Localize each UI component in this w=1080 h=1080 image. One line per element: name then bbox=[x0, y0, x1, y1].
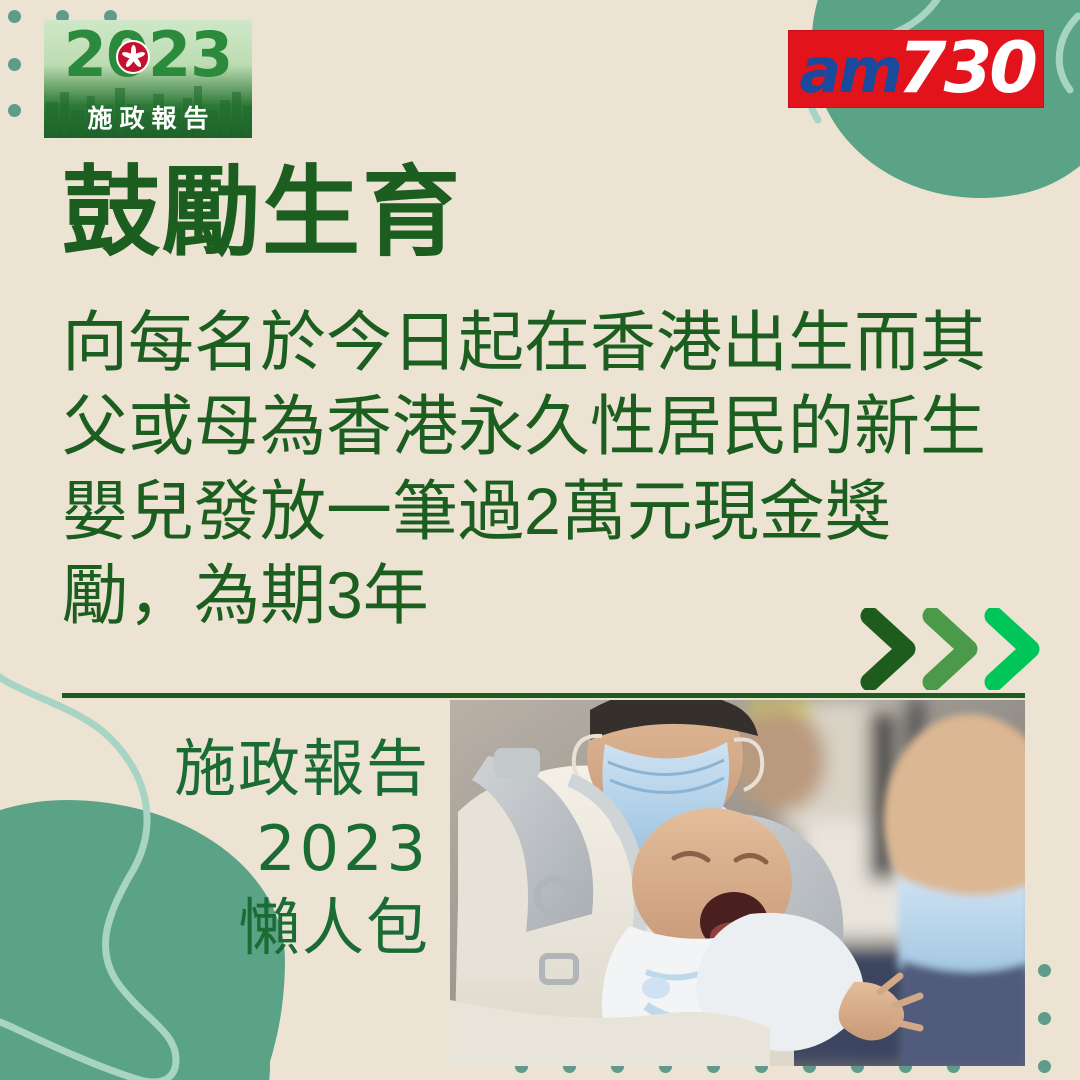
page-title: 鼓勵生育 bbox=[62, 160, 462, 266]
am730-prefix: am bbox=[799, 40, 899, 102]
body-paragraph: 向每名於今日起在香港出生而其父或母為香港永久性居民的新生嬰兒發放一筆過2萬元現金… bbox=[62, 300, 992, 638]
chevron-right-icon bbox=[858, 608, 918, 690]
chevron-right-icon bbox=[982, 608, 1042, 690]
decorative-dot bbox=[1038, 964, 1051, 977]
feature-photo-graphic bbox=[450, 700, 1025, 1066]
decorative-dot bbox=[1038, 1012, 1051, 1025]
chevron-right-icon bbox=[920, 608, 980, 690]
decorative-dot bbox=[1038, 1060, 1051, 1073]
am730-logo[interactable]: am 730 bbox=[788, 30, 1044, 108]
decorative-dot bbox=[8, 58, 21, 71]
caption-line-3: 懶人包 bbox=[60, 889, 430, 968]
feature-photo bbox=[450, 700, 1025, 1066]
am730-number: 730 bbox=[898, 33, 1035, 103]
decorative-dot bbox=[8, 104, 21, 117]
caption-line-2: 2023 bbox=[60, 809, 430, 888]
decorative-dot bbox=[8, 10, 21, 23]
forward-chevrons bbox=[858, 608, 1042, 690]
logo-title: 施政報告 bbox=[44, 106, 252, 132]
poster-root: 2023 施政報告 am 730 鼓勵生育 向每名於今日起在香港出生而其父或母為… bbox=[0, 0, 1080, 1080]
policy-address-logo: 2023 施政報告 bbox=[44, 20, 252, 138]
caption-line-1: 施政報告 bbox=[60, 730, 430, 809]
series-caption: 施政報告 2023 懶人包 bbox=[60, 730, 430, 968]
hong-kong-bauhinia-emblem bbox=[116, 40, 150, 74]
divider-rule bbox=[62, 693, 1025, 698]
